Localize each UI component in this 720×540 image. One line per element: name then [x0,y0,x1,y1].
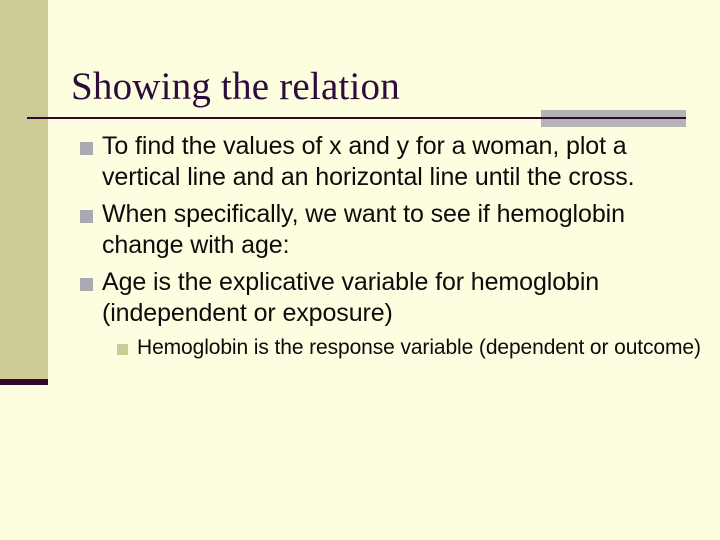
bullet-item: To find the values of x and y for a woma… [0,131,720,193]
sidebar-band-cap-line [0,379,48,385]
bullet-item: When specifically, we want to see if hem… [0,199,720,261]
sub-bullet-text: Hemoglobin is the response variable (dep… [137,335,702,361]
page-title: Showing the relation [71,64,671,110]
bullet-square-icon [80,210,93,223]
bullet-square-icon [80,278,93,291]
sub-bullet-square-icon [117,344,128,355]
bullet-item: Age is the explicative variable for hemo… [0,267,720,329]
sub-bullet-item: Hemoglobin is the response variable (dep… [0,335,720,361]
title-divider-rule [27,117,686,119]
bullet-text: Age is the explicative variable for hemo… [102,267,702,329]
bullet-text: When specifically, we want to see if hem… [102,199,702,261]
bullet-text: To find the values of x and y for a woma… [102,131,702,193]
slide-body: To find the values of x and y for a woma… [0,131,720,367]
presentation-slide: Showing the relation To find the values … [0,0,720,540]
bullet-square-icon [80,142,93,155]
